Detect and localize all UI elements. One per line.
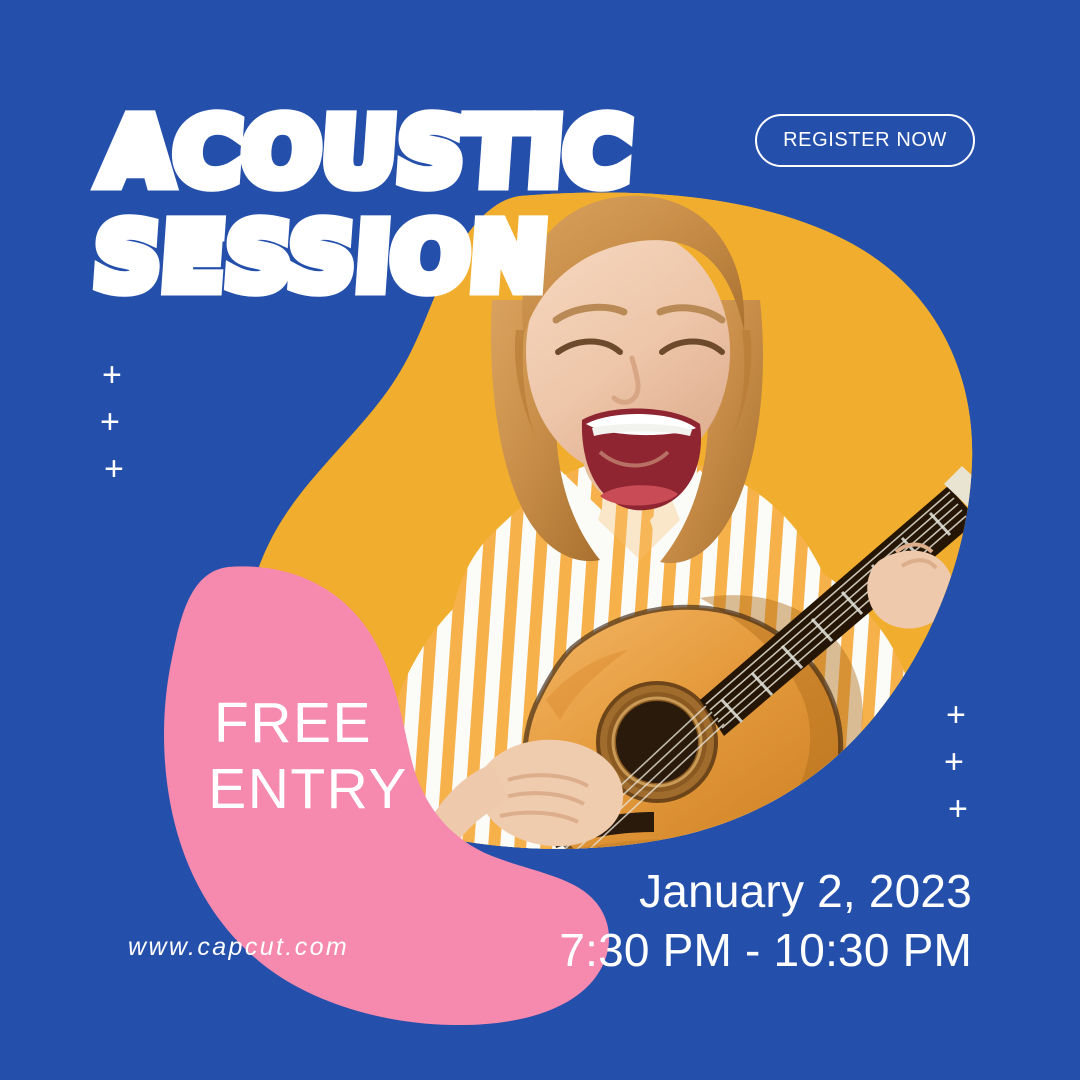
register-now-button[interactable]: REGISTER NOW [755, 114, 975, 167]
free-entry-line-2: ENTRY [138, 756, 448, 822]
free-entry-line-1: FREE [138, 690, 448, 756]
plus-icon: + [946, 698, 966, 732]
free-entry-badge: FREE ENTRY [138, 690, 448, 822]
event-time: 7:30 PM - 10:30 PM [559, 921, 972, 980]
website-url[interactable]: www.capcut.com [128, 933, 349, 962]
plus-icon: + [944, 745, 964, 779]
page-title: ACOUSTICSESSION [91, 100, 636, 310]
plus-icon: + [104, 452, 124, 486]
event-date: January 2, 2023 [559, 862, 972, 921]
plus-icon: + [100, 405, 120, 439]
plus-icon: + [102, 358, 122, 392]
poster-canvas: ACOUSTICSESSION REGISTER NOW FREE ENTRY … [0, 0, 1080, 1080]
plus-icon: + [948, 792, 968, 826]
title-line-2: SESSION [91, 205, 629, 310]
event-datetime: January 2, 2023 7:30 PM - 10:30 PM [559, 862, 972, 980]
title-line-1: ACOUSTIC [98, 99, 636, 206]
